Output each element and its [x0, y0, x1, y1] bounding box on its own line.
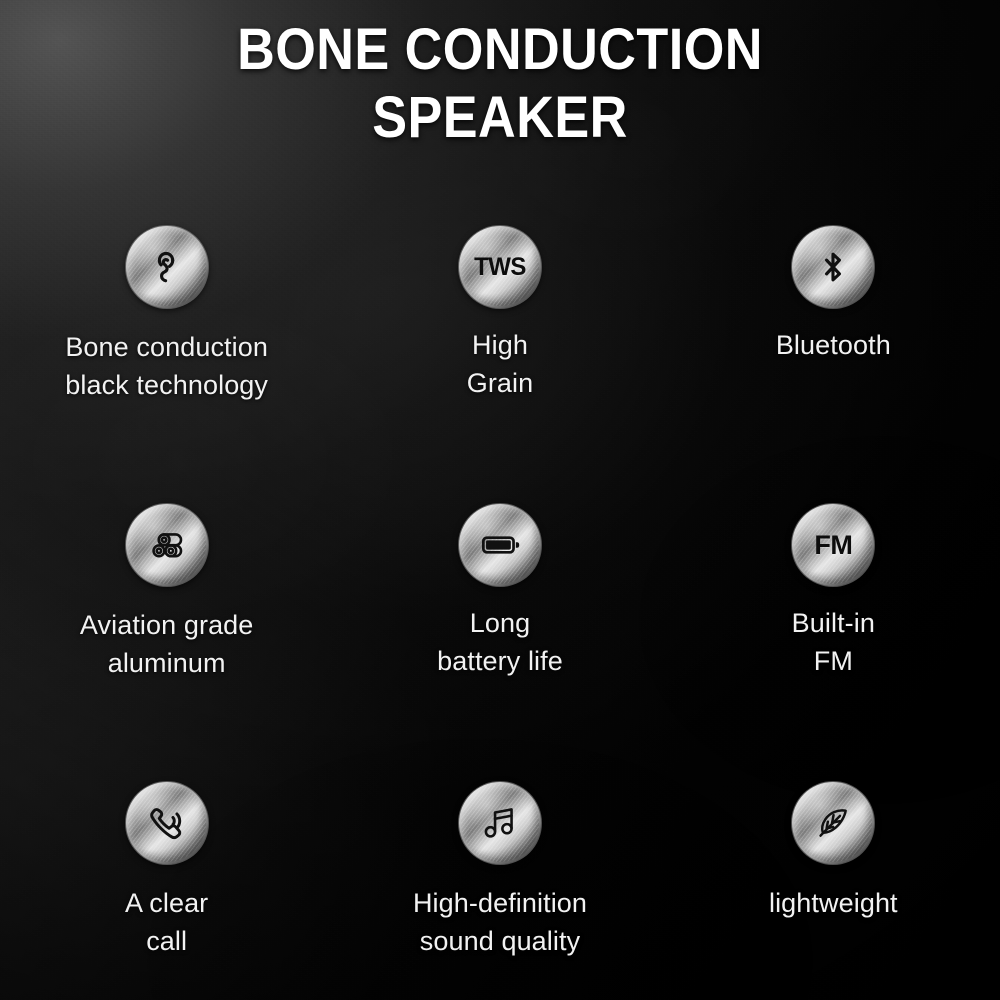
feature-caption: Built-in FM [792, 604, 875, 680]
battery-full-icon [459, 504, 541, 586]
product-feature-poster: BONE CONDUCTION SPEAKER Bone conduction … [0, 0, 1000, 1000]
feature-badge [126, 226, 208, 308]
feature-caption: A clear call [125, 884, 208, 960]
feature-caption: Long battery life [437, 604, 563, 680]
aluminum-tubes-icon [126, 504, 208, 586]
title-line-2: SPEAKER [50, 84, 950, 152]
feature-caption: lightweight [769, 884, 898, 922]
feature-badge [792, 226, 874, 308]
title-line-1: BONE CONDUCTION [50, 16, 950, 84]
feature-item-bluetooth: Bluetooth [667, 226, 1000, 504]
feature-badge [126, 504, 208, 586]
feature-item-lightweight: lightweight [667, 782, 1000, 1000]
feature-caption: Aviation grade aluminum [80, 606, 254, 682]
feature-item-bone-conduction: Bone conduction black technology [0, 226, 333, 504]
feature-item-aviation-aluminum: Aviation grade aluminum [0, 504, 333, 782]
feature-caption: High Grain [467, 326, 534, 402]
feature-item-clear-call: A clear call [0, 782, 333, 1000]
feature-item-sound-quality: High-definition sound quality [333, 782, 666, 1000]
ear-icon [126, 226, 208, 308]
feature-caption: Bluetooth [776, 326, 891, 364]
feature-caption: Bone conduction black technology [65, 328, 268, 404]
feature-badge: FM [792, 504, 874, 586]
feather-icon [792, 782, 874, 864]
feature-badge [126, 782, 208, 864]
feature-badge [792, 782, 874, 864]
feature-badge [459, 782, 541, 864]
music-note-icon [459, 782, 541, 864]
phone-call-icon [126, 782, 208, 864]
bluetooth-icon [792, 226, 874, 308]
feature-item-battery-life: Long battery life [333, 504, 666, 782]
feature-badge: TWS [459, 226, 541, 308]
feature-item-high-grain: TWS High Grain [333, 226, 666, 504]
poster-title: BONE CONDUCTION SPEAKER [0, 16, 1000, 152]
feature-grid: Bone conduction black technology TWS Hig… [0, 226, 1000, 1000]
feature-badge [459, 504, 541, 586]
feature-item-built-in-fm: FM Built-in FM [667, 504, 1000, 782]
tws-text-icon: TWS [474, 253, 526, 282]
feature-caption: High-definition sound quality [413, 884, 587, 960]
fm-text-icon: FM [814, 530, 852, 561]
